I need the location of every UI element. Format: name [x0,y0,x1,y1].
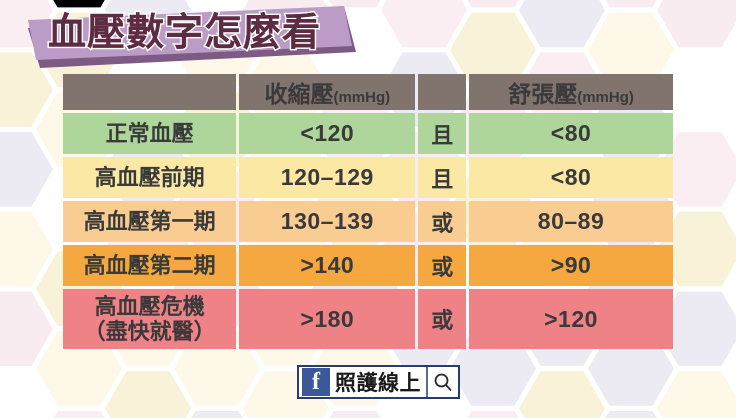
header-diastolic-unit: (mmHg) [577,89,634,106]
row-category-line2: （盡快就醫） [63,319,236,344]
header-systolic-label: 收縮壓 [264,81,333,107]
header-systolic-unit: (mmHg) [333,89,390,106]
page-title-outline: 血壓數字怎麼看 [48,10,348,58]
row-conjunction: 且 [418,113,466,154]
row-category-line1: 高血壓危機 [63,294,236,319]
row-category-label: 高血壓第二期 [63,245,236,286]
header-cell-blank [63,74,236,110]
row-category-label: 高血壓危機（盡快就醫） [63,289,236,349]
table-row: 高血壓第二期>140或>90 [63,245,673,286]
table-row: 高血壓第一期130–139或80–89 [63,201,673,242]
row-category-label: 正常血壓 [63,113,236,154]
row-conjunction: 或 [418,245,466,286]
brand-name: 照護線上 [333,367,426,397]
header-cell-systolic: 收縮壓(mmHg) [239,74,415,110]
infographic-canvas: 血壓數字怎麼看 血壓數字怎麼看 收縮壓(mmHg)舒張壓(mmHg)正常血壓<1… [0,0,736,418]
header-cell-diastolic: 舒張壓(mmHg) [469,74,673,110]
row-category-label: 高血壓前期 [63,157,236,198]
row-diastolic-value: <80 [469,157,673,198]
header-cell-conjunction-blank [418,74,466,110]
row-category-label: 高血壓第一期 [63,201,236,242]
row-systolic-value: 120–129 [239,157,415,198]
header-diastolic-label: 舒張壓 [508,81,577,107]
row-conjunction: 且 [418,157,466,198]
row-diastolic-value: <80 [469,113,673,154]
search-icon[interactable] [428,372,458,392]
row-conjunction: 或 [418,201,466,242]
row-conjunction: 或 [418,289,466,349]
row-systolic-value: >180 [239,289,415,349]
row-diastolic-value: >120 [469,289,673,349]
facebook-icon[interactable]: f [302,368,330,396]
brand-badge[interactable]: f 照護線上 [297,365,460,399]
row-diastolic-value: >90 [469,245,673,286]
table-row: 高血壓前期120–129且<80 [63,157,673,198]
row-systolic-value: 130–139 [239,201,415,242]
table-header-row: 收縮壓(mmHg)舒張壓(mmHg) [63,74,673,110]
table-row: 正常血壓<120且<80 [63,113,673,154]
row-systolic-value: <120 [239,113,415,154]
blood-pressure-table: 收縮壓(mmHg)舒張壓(mmHg)正常血壓<120且<80高血壓前期120–1… [60,71,676,352]
table-row: 高血壓危機（盡快就醫）>180或>120 [63,289,673,349]
row-diastolic-value: 80–89 [469,201,673,242]
row-systolic-value: >140 [239,245,415,286]
